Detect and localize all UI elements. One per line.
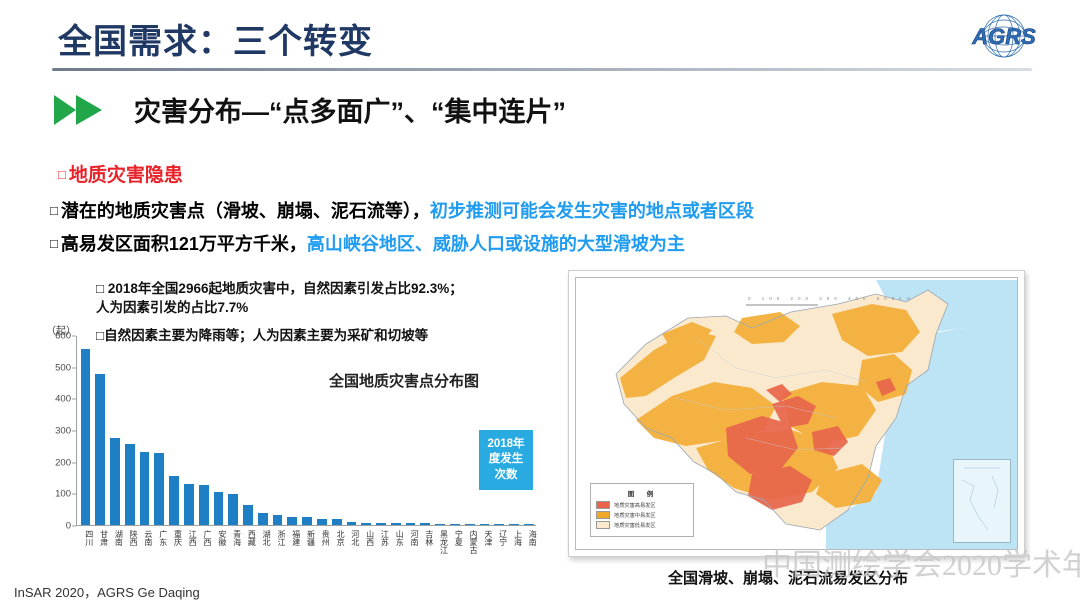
bar bbox=[184, 484, 194, 525]
bar-cell bbox=[359, 336, 374, 525]
x-tick-label: 宁夏 bbox=[448, 530, 463, 564]
bar bbox=[317, 519, 327, 525]
x-label-holder: 重庆 bbox=[167, 530, 182, 564]
bar-cell bbox=[270, 336, 285, 525]
x-label-holder: 江西 bbox=[181, 530, 196, 564]
y-tick-mark bbox=[72, 336, 76, 337]
bar bbox=[494, 524, 504, 525]
x-label-holder: 广东 bbox=[152, 530, 167, 564]
bar-cell bbox=[167, 336, 182, 525]
x-tick-label: 四川 bbox=[78, 530, 93, 564]
bar-cell bbox=[448, 336, 463, 525]
legend-label-medium: 地质灾害中易发区 bbox=[614, 512, 656, 519]
double-chevron-icon bbox=[52, 93, 118, 127]
bar-cell bbox=[241, 336, 256, 525]
bar-cell bbox=[388, 336, 403, 525]
bar bbox=[406, 523, 416, 525]
bar-cell bbox=[433, 336, 448, 525]
y-tick-mark bbox=[72, 367, 76, 368]
bar-cell bbox=[255, 336, 270, 525]
bullet-marker-icon: □ bbox=[58, 167, 66, 182]
chart-note-line-1: □ 2018年全国2966起地质灾害中，自然因素引发占比92.3%； bbox=[96, 279, 546, 298]
bar bbox=[140, 452, 150, 525]
bar bbox=[214, 492, 224, 525]
bullet-marker-icon: □ bbox=[50, 236, 58, 251]
x-tick-label: 浙江 bbox=[270, 530, 285, 564]
bar bbox=[509, 524, 519, 525]
bar bbox=[376, 523, 386, 525]
x-label-holder: 甘肃 bbox=[93, 530, 108, 564]
bar-cell bbox=[78, 336, 93, 525]
x-label-holder: 天津 bbox=[477, 530, 492, 564]
bullet-heading-text: 地质灾害隐患 bbox=[69, 165, 183, 186]
legend-label-low: 地质灾害低易发区 bbox=[614, 522, 656, 529]
y-tick-mark bbox=[72, 431, 76, 432]
agrs-logo-icon: AGRS bbox=[950, 12, 1058, 64]
bar bbox=[125, 444, 135, 525]
bar bbox=[243, 505, 253, 525]
bar bbox=[228, 494, 238, 525]
x-label-holder: 北京 bbox=[329, 530, 344, 564]
x-label-holder: 黑龙江 bbox=[433, 530, 448, 564]
x-label-holder: 西藏 bbox=[241, 530, 256, 564]
x-tick-label: 江苏 bbox=[374, 530, 389, 564]
map-legend-item: 地质灾害中易发区 bbox=[596, 511, 688, 519]
bar bbox=[110, 438, 120, 525]
x-label-holder: 湖北 bbox=[255, 530, 270, 564]
x-tick-label: 新疆 bbox=[300, 530, 315, 564]
chart-note-line-2: 人为因素引发的占比7.7% bbox=[96, 298, 546, 317]
bar bbox=[199, 485, 209, 525]
bullet-line-2: □高易发区面积121万平方千米，高山峡谷地区、威胁人口或设施的大型滑坡为主 bbox=[50, 230, 685, 256]
x-tick-label: 湖南 bbox=[108, 530, 123, 564]
y-tick-label: 500 bbox=[55, 362, 71, 373]
map-legend-item: 地质灾害低易发区 bbox=[596, 521, 688, 529]
y-tick-label: 400 bbox=[55, 394, 71, 405]
map-legend: 图 例 地质灾害高易发区 地质灾害中易发区 地质灾害低易发区 bbox=[590, 483, 694, 537]
y-tick-mark bbox=[72, 399, 76, 400]
bullet-line-1-blue: 初步推测可能会发生灾害的地点或者区段 bbox=[430, 201, 754, 221]
x-label-holder: 上海 bbox=[507, 530, 522, 564]
bar bbox=[81, 349, 91, 525]
x-label-holder: 河南 bbox=[403, 530, 418, 564]
svg-text:AGRS: AGRS bbox=[971, 24, 1036, 49]
bullet-line-1: □潜在的地质灾害点（滑坡、崩塌、泥石流等），初步推测可能会发生灾害的地点或者区段 bbox=[50, 197, 754, 223]
subheading-text: 灾害分布—“点多面广”、“集中连片” bbox=[134, 90, 566, 129]
title-divider bbox=[52, 68, 1032, 71]
x-tick-label: 安徽 bbox=[211, 530, 226, 564]
y-tick-label: 600 bbox=[55, 331, 71, 342]
bar-cell bbox=[226, 336, 241, 525]
y-tick-mark bbox=[72, 462, 76, 463]
bar bbox=[302, 517, 312, 525]
bar-cell bbox=[492, 336, 507, 525]
y-tick-label: 300 bbox=[55, 426, 71, 437]
bar bbox=[361, 523, 371, 525]
x-tick-label: 辽宁 bbox=[492, 530, 507, 564]
x-tick-label: 山东 bbox=[388, 530, 403, 564]
x-tick-label: 甘肃 bbox=[93, 530, 108, 564]
x-tick-label: 上海 bbox=[507, 530, 522, 564]
svg-text:0 100 200 300 400 500km: 0 100 200 300 400 500km bbox=[748, 296, 915, 301]
bar bbox=[95, 374, 105, 525]
bar-cell bbox=[211, 336, 226, 525]
bullet-line-2-black: 高易发区面积121万平方千米， bbox=[61, 234, 307, 254]
bar-cell bbox=[285, 336, 300, 525]
y-tick-label: 200 bbox=[55, 457, 71, 468]
bar bbox=[154, 453, 164, 525]
x-label-holder: 辽宁 bbox=[492, 530, 507, 564]
map-frame: 0 100 200 300 400 500km 图 例 地质灾害高易发区 地质灾… bbox=[575, 277, 1018, 550]
bar-cell bbox=[93, 336, 108, 525]
bullet-marker-icon: □ bbox=[50, 203, 58, 218]
watermark: 中国测绘学会2020学术年会 bbox=[762, 540, 1080, 584]
x-label-holder: 安徽 bbox=[211, 530, 226, 564]
x-tick-label: 重庆 bbox=[167, 530, 182, 564]
bar-cell bbox=[300, 336, 315, 525]
x-label-holder: 海南 bbox=[521, 530, 536, 564]
x-tick-label: 吉林 bbox=[418, 530, 433, 564]
map-legend-title: 图 例 bbox=[596, 488, 688, 498]
x-tick-label: 陕西 bbox=[122, 530, 137, 564]
agrs-logo: AGRS bbox=[950, 12, 1058, 64]
bullet-line-2-blue: 高山峡谷地区、威胁人口或设施的大型滑坡为主 bbox=[307, 234, 685, 254]
x-tick-labels: 四川甘肃湖南陕西云南广东重庆江西广西安徽青海西藏湖北浙江福建新疆贵州北京河北山西… bbox=[78, 530, 536, 564]
x-label-holder: 广西 bbox=[196, 530, 211, 564]
bar bbox=[273, 515, 283, 525]
y-axis bbox=[76, 336, 77, 526]
legend-label-high: 地质灾害高易发区 bbox=[614, 502, 656, 509]
x-tick-label: 广东 bbox=[152, 530, 167, 564]
bar bbox=[332, 519, 342, 525]
x-label-holder: 内蒙古 bbox=[462, 530, 477, 564]
page-title: 全国需求：三个转变 bbox=[58, 14, 373, 63]
x-label-holder: 浙江 bbox=[270, 530, 285, 564]
x-tick-label: 河南 bbox=[403, 530, 418, 564]
bar-cell bbox=[344, 336, 359, 525]
bullet-line-1-black: 潜在的地质灾害点（滑坡、崩塌、泥石流等）， bbox=[61, 201, 430, 221]
bullet-heading-hazard: □地质灾害隐患 bbox=[58, 160, 183, 187]
bar bbox=[391, 523, 401, 525]
map-inset-south-sea bbox=[953, 459, 1011, 543]
bar-cell bbox=[403, 336, 418, 525]
x-label-holder: 河北 bbox=[344, 530, 359, 564]
bar-cell bbox=[374, 336, 389, 525]
bar-cell bbox=[122, 336, 137, 525]
x-tick-label: 海南 bbox=[521, 530, 536, 564]
bar bbox=[435, 524, 445, 525]
bar bbox=[169, 476, 179, 525]
subheading-row: 灾害分布—“点多面广”、“集中连片” bbox=[52, 90, 566, 129]
bar-chart: （起） 全国地质灾害点分布图 2018年 度发生 次数 010020030040… bbox=[24, 322, 544, 572]
x-tick-label: 贵州 bbox=[315, 530, 330, 564]
x-label-holder: 宁夏 bbox=[448, 530, 463, 564]
bar-cell bbox=[152, 336, 167, 525]
x-tick-label: 云南 bbox=[137, 530, 152, 564]
legend-swatch-high bbox=[596, 501, 610, 509]
bar-cell bbox=[108, 336, 123, 525]
x-label-holder: 青海 bbox=[226, 530, 241, 564]
chart-plot-area: 0100200300400500600 bbox=[76, 336, 536, 526]
x-label-holder: 贵州 bbox=[315, 530, 330, 564]
x-tick-label: 内蒙古 bbox=[462, 530, 477, 564]
bar-cell bbox=[418, 336, 433, 525]
x-tick-label: 青海 bbox=[226, 530, 241, 564]
bar bbox=[465, 524, 475, 525]
x-tick-label: 北京 bbox=[329, 530, 344, 564]
bar-cell bbox=[315, 336, 330, 525]
map-inset-icon bbox=[954, 460, 1010, 542]
bar-cell bbox=[477, 336, 492, 525]
bar bbox=[480, 524, 490, 525]
map-card: 0 100 200 300 400 500km 图 例 地质灾害高易发区 地质灾… bbox=[568, 270, 1025, 557]
x-label-holder: 新疆 bbox=[300, 530, 315, 564]
x-label-holder: 湖南 bbox=[108, 530, 123, 564]
bar bbox=[287, 517, 297, 525]
x-label-holder: 江苏 bbox=[374, 530, 389, 564]
y-tick-label: 0 bbox=[66, 521, 71, 532]
x-label-holder: 山东 bbox=[388, 530, 403, 564]
bar-cell bbox=[181, 336, 196, 525]
x-label-holder: 福建 bbox=[285, 530, 300, 564]
x-label-holder: 四川 bbox=[78, 530, 93, 564]
bar-cell bbox=[196, 336, 211, 525]
x-tick-label: 黑龙江 bbox=[433, 530, 448, 564]
y-tick-mark bbox=[72, 526, 76, 527]
bar-cell bbox=[507, 336, 522, 525]
bar-cell bbox=[462, 336, 477, 525]
footer-text: InSAR 2020，AGRS Ge Daqing bbox=[14, 582, 200, 601]
legend-swatch-low bbox=[596, 521, 610, 529]
map-legend-item: 地质灾害高易发区 bbox=[596, 501, 688, 509]
x-axis bbox=[76, 525, 536, 526]
y-tick-mark bbox=[72, 494, 76, 495]
x-tick-label: 福建 bbox=[285, 530, 300, 564]
x-label-holder: 云南 bbox=[137, 530, 152, 564]
bar bbox=[450, 524, 460, 525]
x-tick-label: 河北 bbox=[344, 530, 359, 564]
y-tick-label: 100 bbox=[55, 489, 71, 500]
x-tick-label: 天津 bbox=[477, 530, 492, 564]
bar bbox=[347, 522, 357, 525]
slide-root: 全国需求：三个转变 AGRS 灾害分布—“点多面广”、“集中连片” □地质灾害隐… bbox=[0, 0, 1080, 608]
x-tick-label: 江西 bbox=[181, 530, 196, 564]
bar-cell bbox=[137, 336, 152, 525]
bar-cell bbox=[521, 336, 536, 525]
bar bbox=[258, 513, 268, 525]
chart-note-block: □ 2018年全国2966起地质灾害中，自然因素引发占比92.3%； 人为因素引… bbox=[96, 279, 546, 317]
bar-series bbox=[78, 336, 536, 525]
x-tick-label: 山西 bbox=[359, 530, 374, 564]
x-tick-label: 西藏 bbox=[241, 530, 256, 564]
x-label-holder: 陕西 bbox=[122, 530, 137, 564]
bar bbox=[524, 524, 534, 525]
legend-swatch-medium bbox=[596, 511, 610, 519]
x-tick-label: 湖北 bbox=[255, 530, 270, 564]
bar bbox=[420, 523, 430, 525]
x-label-holder: 吉林 bbox=[418, 530, 433, 564]
x-label-holder: 山西 bbox=[359, 530, 374, 564]
bar-cell bbox=[329, 336, 344, 525]
x-tick-label: 广西 bbox=[196, 530, 211, 564]
